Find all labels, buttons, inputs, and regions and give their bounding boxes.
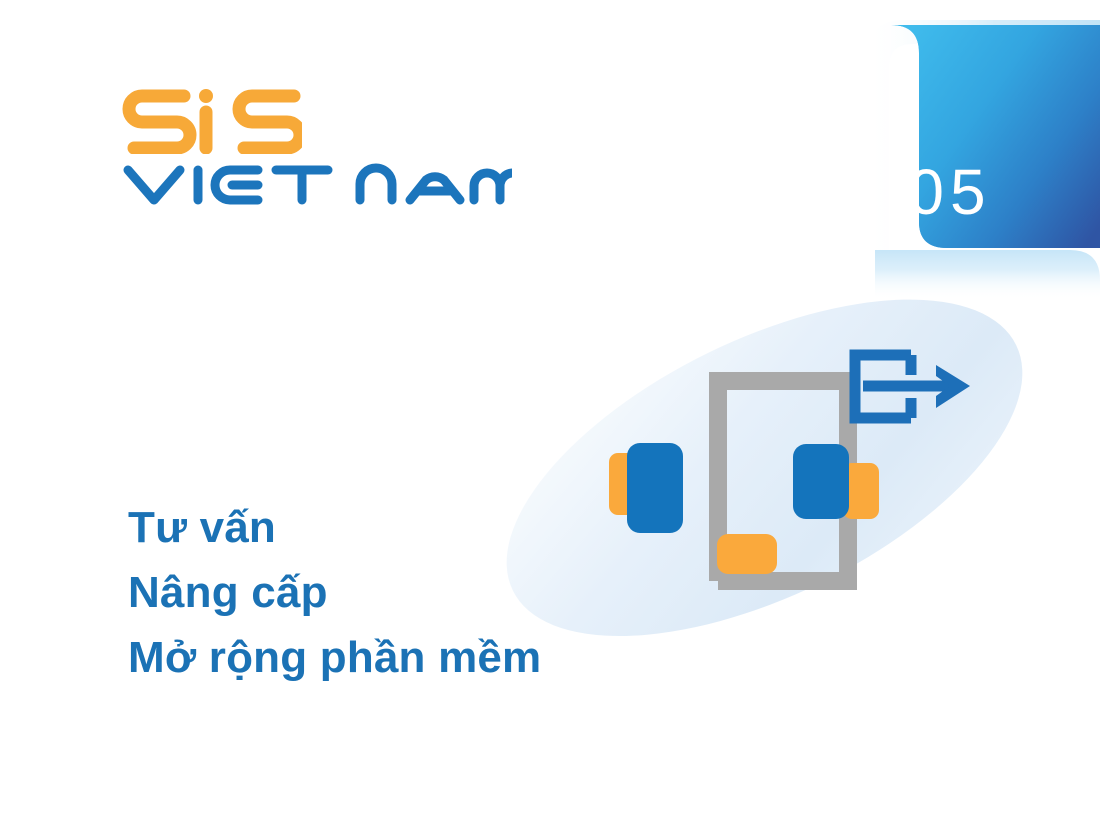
slide-canvas: 05 SiS <box>0 0 1100 830</box>
node-right-blue <box>793 444 849 519</box>
backdrop-ellipse <box>470 270 1050 690</box>
workflow-illustration-svg <box>470 270 1050 690</box>
node-left-blue <box>627 443 683 533</box>
brand-logo: SiS VIE <box>122 82 542 212</box>
workflow-illustration <box>470 270 1050 690</box>
corner-badge-shape <box>855 0 1100 300</box>
sis-logo-icon: SiS <box>122 82 302 154</box>
node-bottom-orange <box>717 534 777 574</box>
corner-number-badge: 05 <box>855 0 1100 300</box>
viet-nam-wordmark: VIET NAM <box>122 160 512 212</box>
sis-logo-i-dot <box>199 89 213 103</box>
